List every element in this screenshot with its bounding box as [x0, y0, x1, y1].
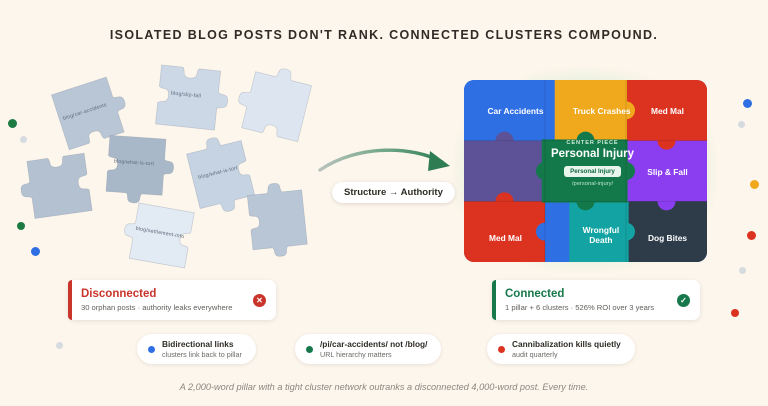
fact-text-1: /pi/car-accidents/ not /blog/ URL hierar… [320, 339, 427, 358]
card-subtitle-connected: 1 pillar + 6 clusters · 526% ROI over 3 … [505, 303, 677, 312]
decor-dot [747, 231, 756, 240]
bullet-dot-icon [306, 346, 313, 353]
close-icon: ✕ [253, 294, 266, 307]
card-title-disconnected: Disconnected [81, 288, 253, 302]
fact-title-1: /pi/car-accidents/ not /blog/ [320, 339, 427, 349]
bullet-dot-icon [148, 346, 155, 353]
infographic-canvas: ISOLATED BLOG POSTS DON'T RANK. CONNECTE… [0, 0, 768, 406]
puzzle-piece-orphan [15, 142, 99, 226]
decor-dot [743, 99, 752, 108]
fact-subtitle-0: clusters link back to pillar [162, 350, 242, 359]
card-accent-bar-connected [492, 280, 496, 320]
connected-cluster-grid [464, 80, 707, 262]
footer-caption: A 2,000-word pillar with a tight cluster… [0, 382, 768, 392]
puzzle-piece-orphan: blog/settlement-info [118, 191, 201, 274]
fact-pill-bidirectional-links: Bidirectional links clusters link back t… [137, 334, 256, 364]
fact-title-2: Cannibalization kills quietly [512, 339, 621, 349]
puzzle-piece-orphan [237, 180, 314, 257]
fact-subtitle-1: URL hierarchy matters [320, 350, 427, 359]
decor-dot [731, 309, 739, 317]
puzzle-piece-orphan: blog/what-is-tort [96, 125, 173, 202]
status-card-connected: Connected 1 pillar + 6 clusters · 526% R… [492, 280, 700, 320]
fact-text-2: Cannibalization kills quietly audit quar… [512, 339, 621, 358]
card-body-connected: Connected 1 pillar + 6 clusters · 526% R… [505, 288, 677, 313]
decor-dot [8, 119, 17, 128]
decor-dot [56, 342, 63, 349]
fact-title-0: Bidirectional links [162, 339, 242, 349]
puzzle-piece-orphan: blog/slip-fall [144, 53, 228, 137]
card-accent-bar-disconnected [68, 280, 72, 320]
card-body-disconnected: Disconnected 30 orphan posts · authority… [81, 288, 253, 313]
fact-pill-url-hierarchy: /pi/car-accidents/ not /blog/ URL hierar… [295, 334, 441, 364]
status-card-disconnected: Disconnected 30 orphan posts · authority… [68, 280, 276, 320]
decor-dot [738, 121, 745, 128]
scattered-puzzle-pieces: blog/car-accidentsblog/slip-fallblog/wha… [20, 55, 350, 265]
card-title-connected: Connected [505, 288, 677, 302]
card-subtitle-disconnected: 30 orphan posts · authority leaks everyw… [81, 303, 253, 312]
structure-authority-pill: Structure → Authority [332, 182, 455, 203]
page-title: ISOLATED BLOG POSTS DON'T RANK. CONNECTE… [0, 28, 768, 42]
bullet-dot-icon [498, 346, 505, 353]
check-icon: ✓ [677, 294, 690, 307]
decor-dot [739, 267, 746, 274]
fact-text-0: Bidirectional links clusters link back t… [162, 339, 242, 358]
fact-pill-cannibalization: Cannibalization kills quietly audit quar… [487, 334, 635, 364]
decor-dot [750, 180, 759, 189]
fact-subtitle-2: audit quarterly [512, 350, 621, 359]
